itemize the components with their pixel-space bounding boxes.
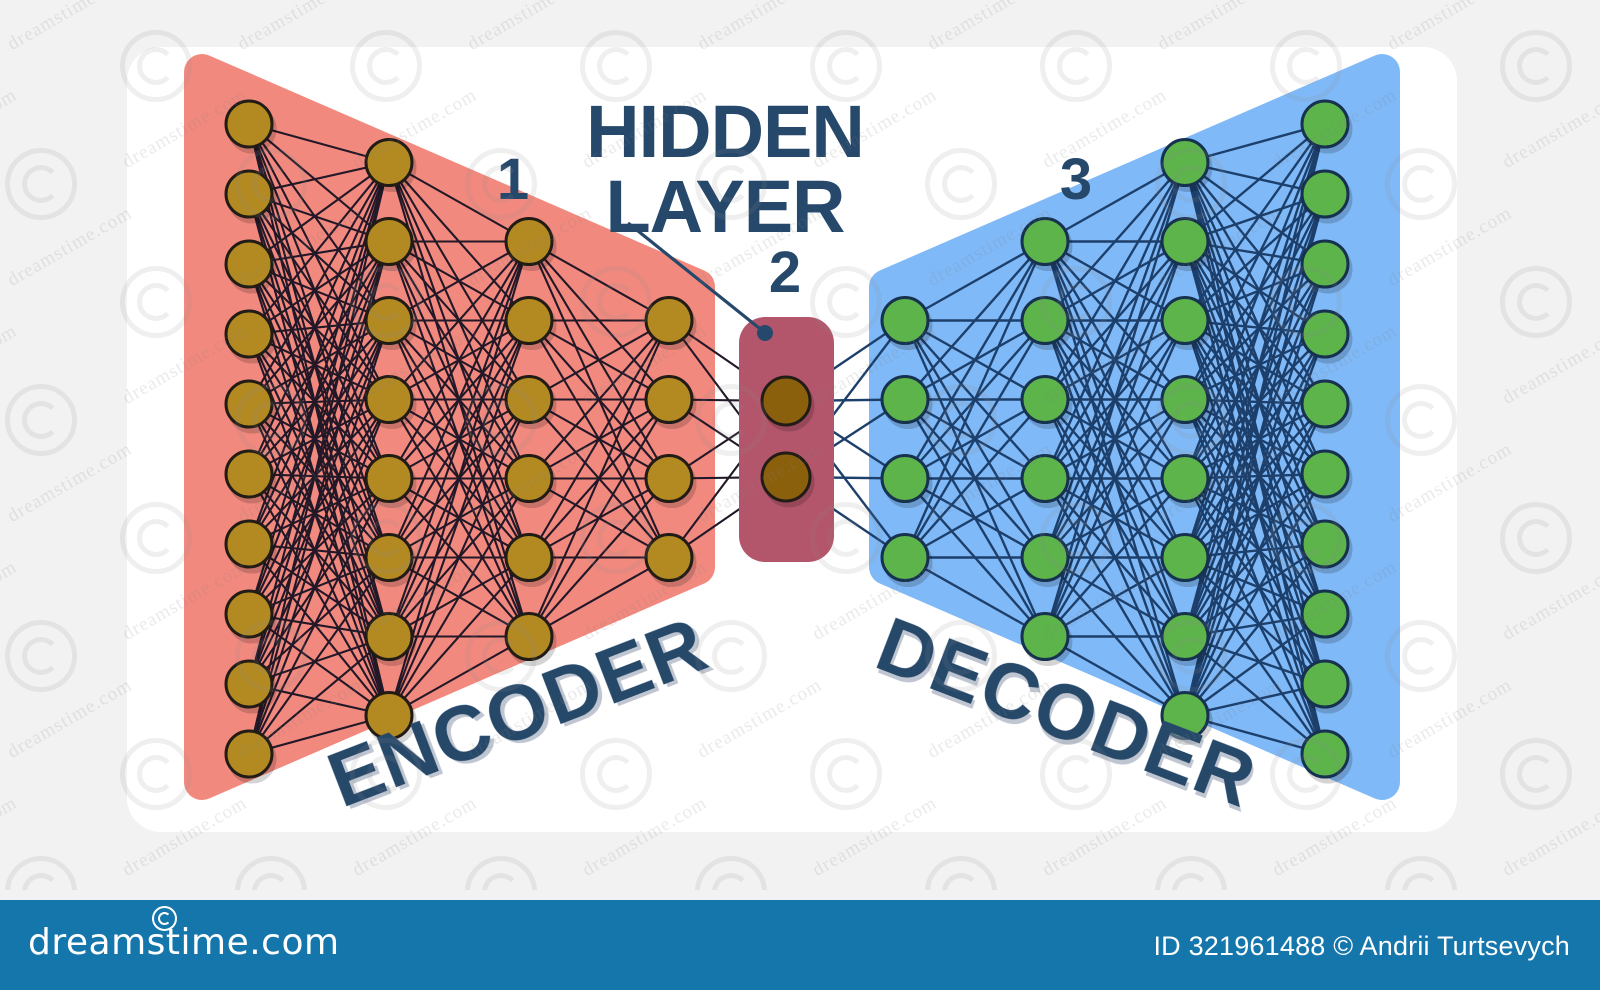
- network-node: [506, 219, 552, 265]
- network-node: [366, 535, 412, 581]
- image-credit: ID 321961488 © Andrii Turtsevych: [1153, 931, 1570, 962]
- network-node: [366, 219, 412, 265]
- dreamstime-logo: dreamstime.com: [28, 922, 340, 963]
- network-node: [1302, 171, 1348, 217]
- watermark-hairline: [650, 0, 1600, 1]
- network-node: [1302, 101, 1348, 147]
- network-node: [762, 377, 810, 425]
- footer-gap: [0, 890, 1600, 900]
- watermark-spiral-icon: [1500, 738, 1572, 810]
- bottleneck-panel: [739, 317, 834, 562]
- network-node: [1302, 731, 1348, 777]
- network-node: [1022, 456, 1068, 502]
- watermark-spiral-icon: [5, 148, 77, 220]
- label-number-1: 1: [497, 147, 529, 212]
- watermark-spiral-icon: [5, 620, 77, 692]
- watermark-text: dreamstime.com: [1499, 84, 1600, 173]
- network-node: [226, 241, 272, 287]
- network-node: [366, 140, 412, 186]
- network-node: [1302, 661, 1348, 707]
- watermark-hairline: [0, 0, 1040, 1]
- network-node: [226, 311, 272, 357]
- watermark-hairline: [0, 0, 520, 1]
- network-node: [1022, 535, 1068, 581]
- watermark-hairline: [390, 0, 1600, 1]
- network-node: [646, 535, 692, 581]
- network-node: [1022, 377, 1068, 423]
- network-node: [1022, 219, 1068, 265]
- watermark-hairline: [780, 0, 1600, 1]
- watermark-hairline: [0, 0, 650, 1]
- watermark-text: dreamstime.com: [4, 438, 136, 527]
- watermark-spiral-icon: [1500, 502, 1572, 574]
- watermark-text: dreamstime.com: [1499, 792, 1600, 881]
- title-line-2: LAYER: [605, 165, 844, 248]
- label-number-3: 3: [1060, 147, 1092, 212]
- watermark-text: dreamstime.com: [0, 320, 21, 409]
- watermark-hairline: [1170, 0, 1600, 1]
- watermark-text: dreamstime.com: [0, 792, 21, 881]
- network-node: [1162, 456, 1208, 502]
- dreamstime-footer: dreamstime.com ID 321961488 © Andrii Tur…: [0, 900, 1600, 990]
- network-node: [506, 614, 552, 660]
- autoencoder-diagram: HIDDEN LAYER 1 2 3 ENCODER DECODER: [127, 47, 1457, 832]
- network-node: [226, 731, 272, 777]
- watermark-hairline: [1430, 0, 1600, 1]
- watermark-text: dreamstime.com: [4, 0, 136, 56]
- network-node: [762, 453, 810, 501]
- network-node: [226, 101, 272, 147]
- network-node: [226, 661, 272, 707]
- network-node: [366, 298, 412, 344]
- network-node: [646, 456, 692, 502]
- network-node: [1162, 614, 1208, 660]
- network-node: [226, 591, 272, 637]
- watermark-text: dreamstime.com: [1499, 320, 1600, 409]
- spiral-icon: [152, 906, 177, 931]
- watermark-hairline: [0, 0, 1170, 1]
- watermark-hairline: [520, 0, 1600, 1]
- network-node: [1162, 377, 1208, 423]
- network-node: [882, 456, 928, 502]
- watermark-hairline: [910, 0, 1600, 1]
- watermark-hairline: [0, 0, 1300, 1]
- network-node: [226, 171, 272, 217]
- watermark-hairline: [1560, 0, 1600, 1]
- watermark-text: dreamstime.com: [4, 674, 136, 763]
- network-node: [1302, 241, 1348, 287]
- network-node: [882, 377, 928, 423]
- network-node: [506, 377, 552, 423]
- screenshot-root: dreamstime.comdreamstime.comdreamstime.c…: [0, 0, 1600, 990]
- network-node: [1162, 219, 1208, 265]
- watermark-hairline: [1300, 0, 1600, 1]
- network-node: [226, 381, 272, 427]
- network-node: [226, 451, 272, 497]
- watermark-hairline: [130, 0, 1430, 1]
- network-node: [882, 535, 928, 581]
- watermark-text: dreamstime.com: [0, 556, 21, 645]
- network-node: [506, 456, 552, 502]
- network-node: [506, 535, 552, 581]
- network-node: [1302, 381, 1348, 427]
- network-node: [646, 377, 692, 423]
- watermark-spiral-icon: [1500, 30, 1572, 102]
- watermark-spiral-icon: [1500, 266, 1572, 338]
- title-line-1: HIDDEN: [586, 90, 864, 173]
- network-node: [1302, 451, 1348, 497]
- label-number-2: 2: [769, 240, 801, 305]
- network-node: [506, 298, 552, 344]
- network-node: [1302, 521, 1348, 567]
- watermark-hairline: [260, 0, 1560, 1]
- watermark-spiral-icon: [5, 384, 77, 456]
- watermark-text: dreamstime.com: [0, 84, 21, 173]
- watermark-hairline: [0, 0, 780, 1]
- leader-dot: [757, 325, 773, 341]
- network-node: [226, 521, 272, 567]
- network-node: [1162, 535, 1208, 581]
- watermark-text: dreamstime.com: [1499, 556, 1600, 645]
- network-node: [366, 614, 412, 660]
- network-node: [1162, 298, 1208, 344]
- watermark-hairline: [1040, 0, 1600, 1]
- network-node: [1022, 298, 1068, 344]
- network-node: [1302, 311, 1348, 357]
- watermark-hairline: [0, 0, 910, 1]
- network-node: [1302, 591, 1348, 637]
- network-node: [646, 298, 692, 344]
- network-node: [882, 298, 928, 344]
- network-node: [366, 456, 412, 502]
- watermark-text: dreamstime.com: [4, 202, 136, 291]
- network-node: [1162, 140, 1208, 186]
- network-node: [366, 377, 412, 423]
